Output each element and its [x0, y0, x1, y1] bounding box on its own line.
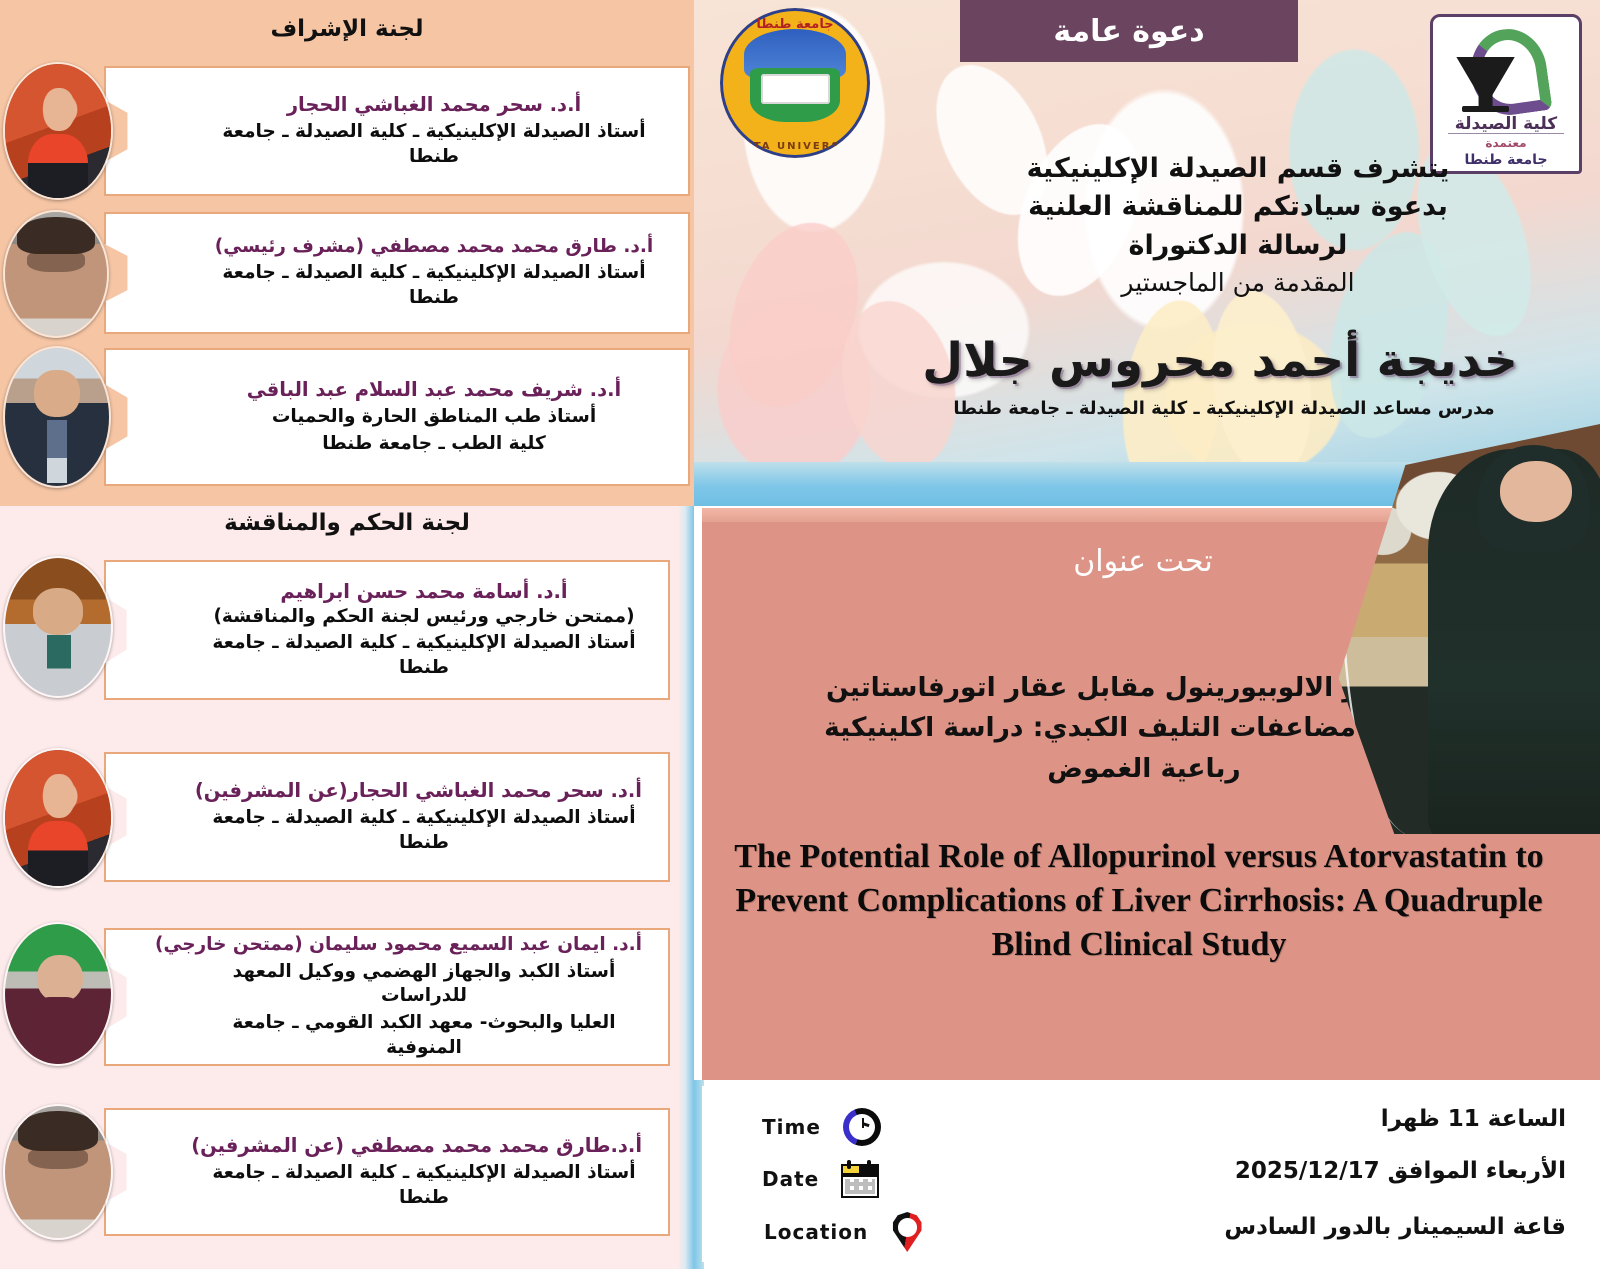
date-label: Date — [762, 1167, 819, 1191]
left-panel-blue-edge — [678, 506, 694, 1269]
judge-affiliation-4: أستاذ الصيدلة الإكلينيكية ـ كلية الصيدلة… — [206, 1161, 642, 1211]
tanta-logo-arabic-text: جامعة طنطا — [720, 17, 870, 32]
pharmacy-logo-line2: معتمدة — [1433, 136, 1579, 150]
location-value: قاعة السيمينار بالدور السادس — [1224, 1214, 1566, 1240]
judge-photo-1 — [3, 556, 113, 698]
judge-name-1: أ.د. أسامة محمد حسن ابراهيم — [206, 579, 642, 605]
invitation-line-3: لرسالة الدكتوراة — [928, 227, 1548, 265]
thesis-title-english: The Potential Role of Allopurinol versus… — [734, 835, 1544, 968]
supervisor-card-3: أ.د. شريف محمد عبد السلام عبد الباقي أست… — [104, 348, 690, 486]
judge-card-3: أ.د. ايمان عبد السميع محمود سليمان (ممتح… — [104, 928, 670, 1066]
supervisor-card-1: أ.د. سحر محمد الغباشي الحجار أستاذ الصيد… — [104, 66, 690, 196]
tanta-university-logo-icon: جامعة طنطا TANTA UNIVERSITY — [720, 8, 870, 158]
candidate-affiliation: مدرس مساعد الصيدلة الإكلينيكية ـ كلية ال… — [894, 398, 1554, 419]
judge-photo-2 — [3, 748, 113, 888]
judge-photo-3 — [3, 922, 113, 1066]
judge-affiliation-2: أستاذ الصيدلة الإكلينيكية ـ كلية الصيدلة… — [206, 806, 642, 856]
supervisor-card-2: أ.د. طارق محمد محمد مصطفي (مشرف رئيسي) أ… — [104, 212, 690, 334]
supervision-committee-heading: لجنة الإشراف — [0, 16, 694, 42]
judge-card-4: أ.د.طارق محمد محمد مصطفي (عن المشرفين) أ… — [104, 1108, 670, 1236]
judge-card-1: أ.د. أسامة محمد حسن ابراهيم (ممتحن خارجي… — [104, 560, 670, 700]
judge-photo-4 — [3, 1104, 113, 1240]
judge-name-2: أ.د. سحر محمد الغباشي الحجار(عن المشرفين… — [206, 778, 642, 804]
pharmacy-logo-line1: كلية الصيدلة — [1433, 114, 1579, 134]
invitation-line-4: المقدمة من الماجستير — [928, 265, 1548, 301]
judge-affiliation-1: أستاذ الصيدلة الإكلينيكية ـ كلية الصيدلة… — [206, 631, 642, 681]
supervisor-affiliation-3: أستاذ طب المناطق الحارة والحميات — [206, 405, 662, 430]
supervisor-name-3: أ.د. شريف محمد عبد السلام عبد الباقي — [206, 377, 662, 403]
announcement-panel: دعوة عامة جامعة طنطا TANTA UNIVERSITY كل… — [694, 0, 1600, 1269]
committees-panel: لجنة الإشراف أ.د. سحر محمد الغباشي الحجا… — [0, 0, 694, 1269]
event-details-footer: Time Date Location الساعة 11 ظهرا الأربع… — [702, 1086, 1600, 1262]
supervisor-photo-2 — [3, 210, 109, 338]
supervisor-name-2: أ.د. طارق محمد محمد مصطفي (مشرف رئيسي) — [206, 235, 662, 259]
judge-name-3: أ.د. ايمان عبد السميع محمود سليمان (ممتح… — [206, 933, 642, 957]
invitation-line-1: يتشرف قسم الصيدلة الإكلينيكية — [928, 150, 1548, 188]
judge-affiliation-3: أستاذ الكبد والجهاز الهضمي ووكيل المعهد … — [206, 960, 642, 1010]
supervisor-affiliation-1: أستاذ الصيدلة الإكلينيكية ـ كلية الصيدلة… — [206, 120, 662, 170]
clock-icon — [843, 1108, 881, 1146]
judge-name-4: أ.د.طارق محمد محمد مصطفي (عن المشرفين) — [206, 1133, 642, 1159]
invitation-line-2: بدعوة سيادتكم للمناقشة العلنية — [928, 188, 1548, 226]
location-row: Location — [764, 1212, 924, 1252]
time-label: Time — [762, 1115, 821, 1139]
location-label: Location — [764, 1220, 868, 1244]
time-row: Time — [762, 1108, 881, 1146]
supervisor-photo-3 — [3, 346, 111, 488]
supervisor-name-1: أ.د. سحر محمد الغباشي الحجار — [206, 92, 662, 118]
calendar-icon — [841, 1160, 879, 1198]
candidate-name: خديجة أحمد محروس جلال — [900, 333, 1540, 388]
supervisor-affiliation-3b: كلية الطب ـ جامعة طنطا — [206, 432, 662, 457]
tanta-logo-latin-text: TANTA UNIVERSITY — [720, 141, 870, 152]
supervisor-affiliation-2: أستاذ الصيدلة الإكلينيكية ـ كلية الصيدلة… — [206, 261, 662, 311]
invitation-text: يتشرف قسم الصيدلة الإكلينيكية بدعوة سياد… — [928, 150, 1548, 300]
judge-note-1: (ممتحن خارجي ورئيس لجنة الحكم والمناقشة) — [206, 605, 642, 630]
invitation-poster: لجنة الإشراف أ.د. سحر محمد الغباشي الحجا… — [0, 0, 1600, 1269]
date-row: Date — [762, 1160, 879, 1198]
date-value: الأربعاء الموافق 2025/12/17 — [1235, 1158, 1566, 1184]
judging-committee-heading: لجنة الحكم والمناقشة — [0, 510, 694, 536]
supervisor-photo-1 — [3, 62, 113, 200]
public-invitation-badge: دعوة عامة — [960, 0, 1298, 62]
time-value: الساعة 11 ظهرا — [1381, 1106, 1566, 1132]
location-pin-icon — [890, 1212, 924, 1252]
judge-card-2: أ.د. سحر محمد الغباشي الحجار(عن المشرفين… — [104, 752, 670, 882]
judge-affiliation-3b: العليا والبحوث- معهد الكبد القومي ـ جامع… — [206, 1011, 642, 1061]
